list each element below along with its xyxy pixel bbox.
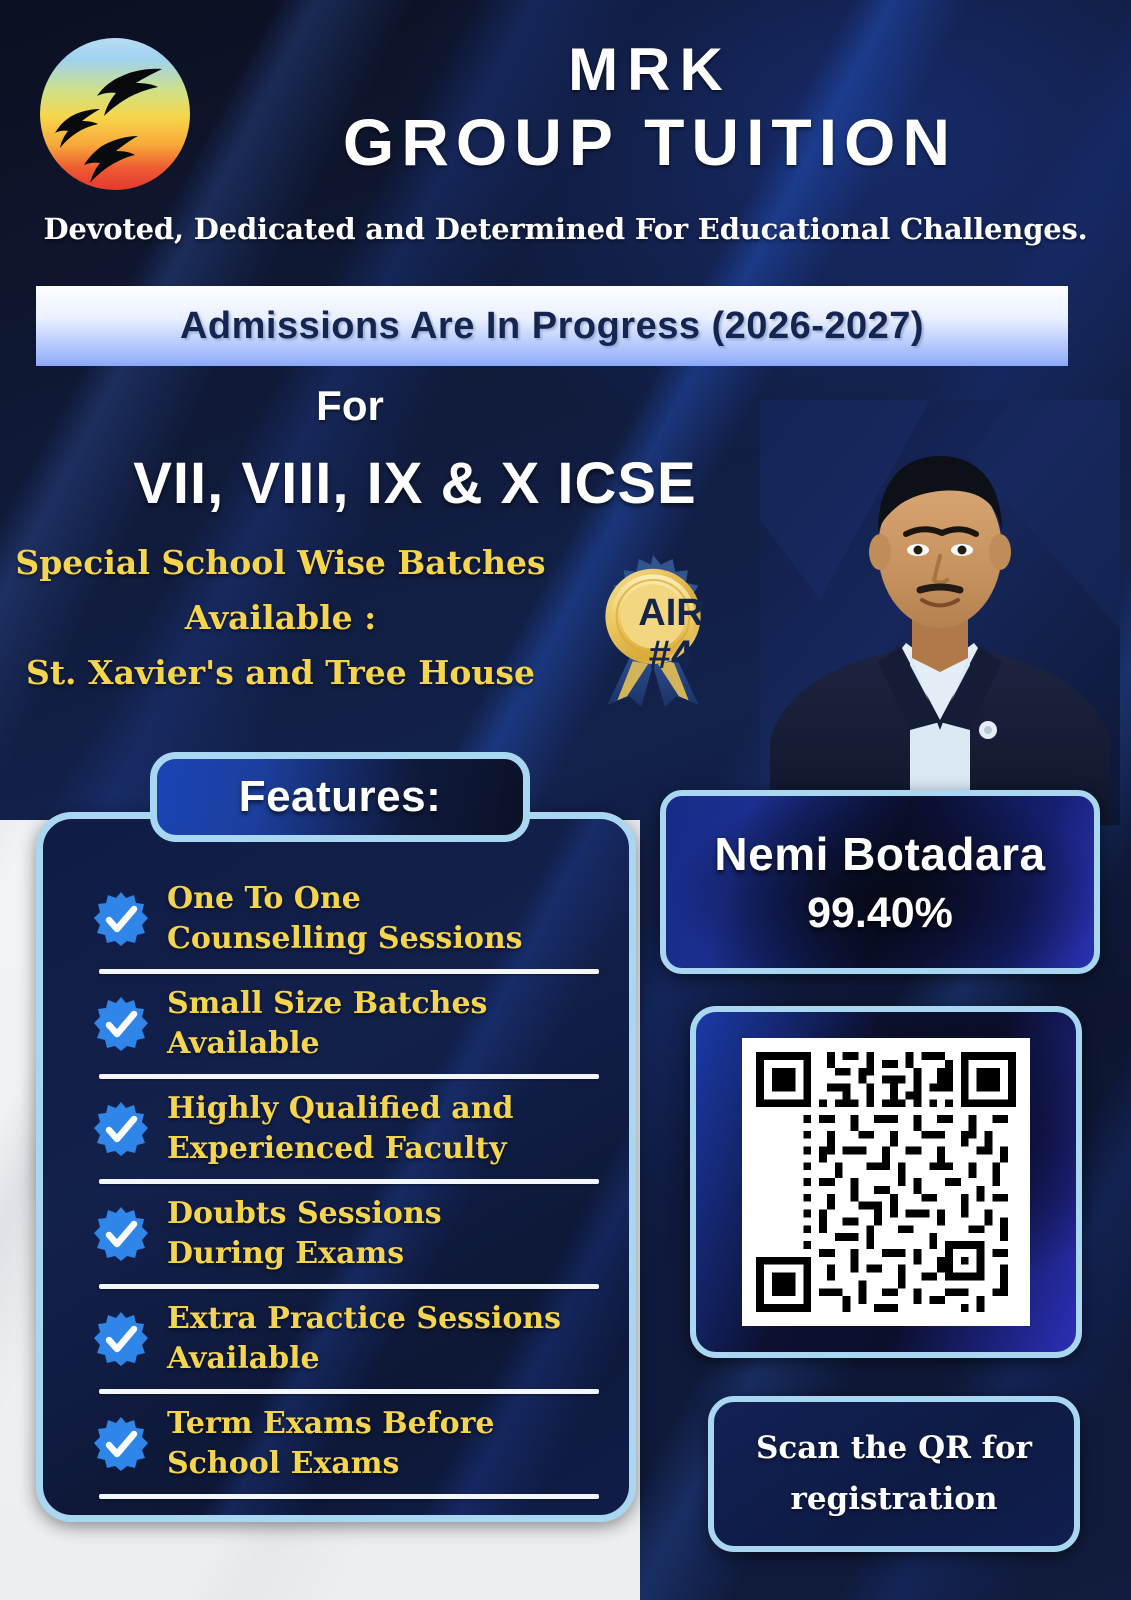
birds-sunset-logo-icon: [40, 38, 190, 190]
feature-item: Highly Qualified and Experienced Faculty: [43, 1085, 629, 1173]
topper-result-card: Nemi Botadara 99.40%: [660, 790, 1100, 974]
brand-name-line2: GROUP TUITION: [200, 106, 1100, 180]
feature-label: One To One Counselling Sessions: [167, 879, 523, 958]
feature-divider: [99, 1074, 599, 1079]
feature-item: One To One Counselling Sessions: [43, 875, 629, 963]
poster-header: MRK GROUP TUITION Devoted, Dedicated and…: [0, 0, 1131, 272]
feature-label: Small Size Batches Available: [167, 984, 487, 1063]
feature-item: Small Size Batches Available: [43, 980, 629, 1068]
batches-line-3: St. Xavier's and Tree House: [8, 646, 553, 701]
qr-code-icon[interactable]: [742, 1038, 1030, 1326]
feature-label: Extra Practice Sessions Available: [167, 1299, 561, 1378]
feature-item: Term Exams Before School Exams: [43, 1400, 629, 1488]
feature-divider: [99, 1494, 599, 1499]
check-badge-icon: [93, 996, 149, 1052]
feature-label: Highly Qualified and Experienced Faculty: [167, 1089, 514, 1168]
scan-instruction-line-2: registration: [790, 1474, 997, 1525]
air-rank-badge: AIR #4: [576, 552, 766, 772]
feature-label: Term Exams Before School Exams: [167, 1404, 494, 1483]
feature-divider: [99, 1284, 599, 1289]
topper-score: 99.40%: [807, 889, 953, 938]
features-card: One To One Counselling Sessions Small Si…: [36, 812, 636, 1522]
features-heading-tab: Features:: [150, 752, 530, 842]
air-badge-text: AIR #4: [576, 594, 766, 676]
qr-code-card[interactable]: [690, 1006, 1082, 1358]
features-list: One To One Counselling Sessions Small Si…: [43, 875, 629, 1505]
scan-qr-instruction-card: Scan the QR for registration: [708, 1396, 1080, 1552]
feature-divider: [99, 1389, 599, 1394]
admissions-banner-text: Admissions Are In Progress (2026-2027): [180, 305, 924, 348]
feature-item: Doubts Sessions During Exams: [43, 1190, 629, 1278]
for-label: For: [0, 382, 700, 430]
special-batches-block: Special School Wise Batches Available : …: [8, 536, 553, 700]
scan-instruction-line-1: Scan the QR for: [756, 1423, 1032, 1474]
feature-divider: [99, 1179, 599, 1184]
brand-name-line1: MRK: [200, 40, 1100, 100]
air-badge-rank: #4: [576, 634, 766, 676]
brand-title-block: MRK GROUP TUITION: [200, 40, 1100, 180]
check-badge-icon: [93, 1311, 149, 1367]
feature-label: Doubts Sessions During Exams: [167, 1194, 442, 1273]
check-badge-icon: [93, 1101, 149, 1157]
poster-root: MRK GROUP TUITION Devoted, Dedicated and…: [0, 0, 1131, 1600]
batches-line-1: Special School Wise Batches: [8, 536, 553, 591]
feature-divider: [99, 969, 599, 974]
admissions-banner: Admissions Are In Progress (2026-2027): [36, 286, 1068, 366]
feature-item: Extra Practice Sessions Available: [43, 1295, 629, 1383]
check-badge-icon: [93, 1416, 149, 1472]
topper-student-photo: [760, 400, 1120, 825]
topper-name: Nemi Botadara: [714, 827, 1045, 881]
air-badge-label: AIR: [638, 592, 703, 634]
batches-line-2: Available :: [8, 591, 553, 646]
brand-tagline: Devoted, Dedicated and Determined For Ed…: [0, 212, 1131, 246]
check-badge-icon: [93, 891, 149, 947]
features-heading-label: Features:: [239, 772, 442, 822]
check-badge-icon: [93, 1206, 149, 1262]
classes-list: VII, VIII, IX & X ICSE: [0, 450, 830, 517]
